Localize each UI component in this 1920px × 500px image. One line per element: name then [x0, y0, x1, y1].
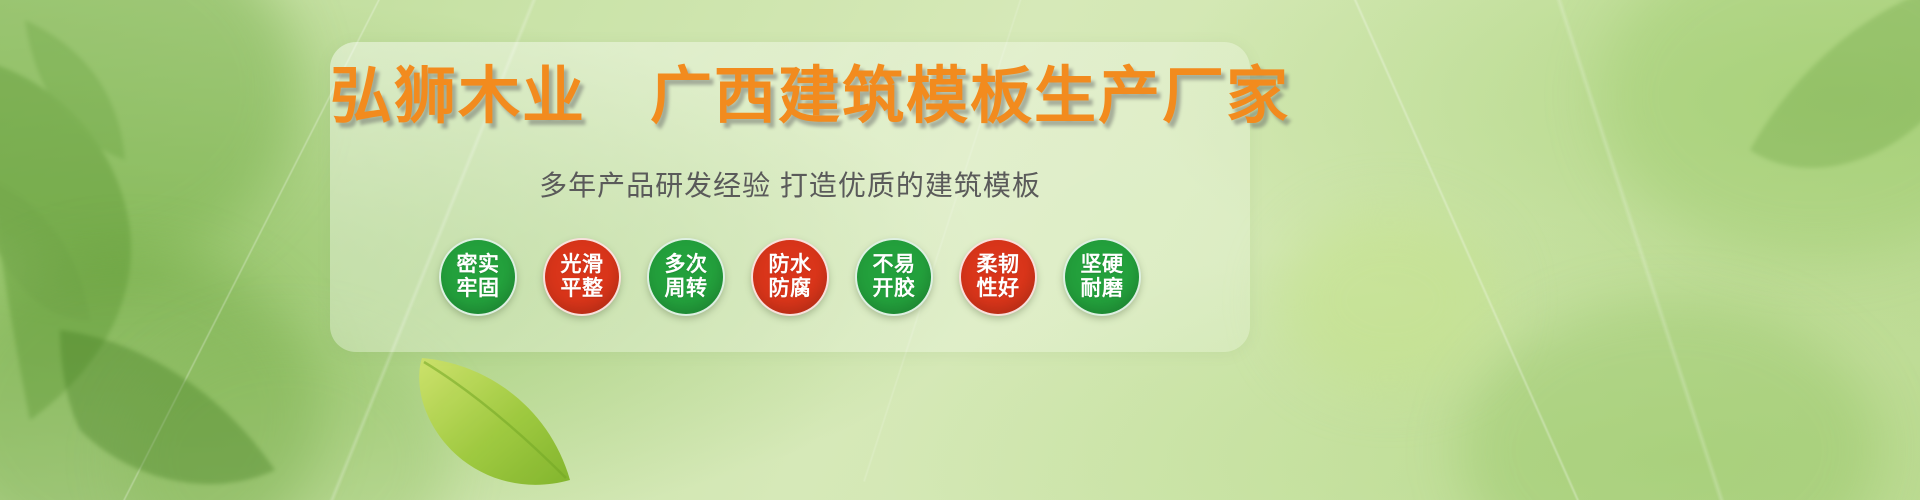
feature-badge-line2: 性好	[977, 277, 1020, 301]
feature-badge: 柔韧性好	[959, 238, 1037, 316]
leaf-silhouette-icon	[1660, 0, 1920, 280]
feature-badge: 防水防腐	[751, 238, 829, 316]
feature-badge-line2: 牢固	[457, 277, 500, 301]
leaf-blob-icon	[1600, 0, 1920, 260]
feature-badge: 坚硬耐磨	[1063, 238, 1141, 316]
green-leaf-icon	[410, 352, 580, 500]
feature-badge-row: 密实牢固光滑平整多次周转防水防腐不易开胶柔韧性好坚硬耐磨	[330, 238, 1250, 316]
light-streak-decoration	[1517, 0, 1771, 500]
feature-badge: 多次周转	[647, 238, 725, 316]
leaf-silhouette-icon	[60, 300, 320, 500]
feature-badge: 密实牢固	[439, 238, 517, 316]
leaf-blob-icon	[0, 250, 320, 500]
feature-badge-line2: 平整	[561, 277, 604, 301]
leaf-highlight-icon	[1280, 210, 1500, 390]
leaf-blob-icon	[0, 0, 300, 270]
feature-badge-line1: 光滑	[561, 253, 604, 277]
feature-badge-line1: 密实	[457, 253, 500, 277]
feature-badge-line1: 不易	[873, 253, 916, 277]
feature-badge: 光滑平整	[543, 238, 621, 316]
leaf-silhouette-icon	[0, 20, 270, 450]
leaf-blob-icon	[120, 330, 450, 500]
promo-banner: 弘狮木业 广西建筑模板生产厂家 多年产品研发经验 打造优质的建筑模板 密实牢固光…	[0, 0, 1920, 500]
page-title: 弘狮木业 广西建筑模板生产厂家	[330, 60, 1250, 134]
feature-badge: 不易开胶	[855, 238, 933, 316]
leaf-blob-icon	[1460, 300, 1880, 500]
light-streak-decoration	[1277, 0, 1647, 500]
feature-badge-line1: 防水	[769, 253, 812, 277]
feature-badge-line2: 周转	[665, 277, 708, 301]
feature-badge-line2: 防腐	[769, 277, 812, 301]
feature-badge-line1: 多次	[665, 253, 708, 277]
feature-badge-line1: 柔韧	[977, 253, 1020, 277]
feature-badge-line1: 坚硬	[1081, 253, 1124, 277]
feature-badge-line2: 耐磨	[1081, 277, 1124, 301]
feature-badge-line2: 开胶	[873, 277, 916, 301]
page-subtitle: 多年产品研发经验 打造优质的建筑模板	[330, 166, 1250, 206]
